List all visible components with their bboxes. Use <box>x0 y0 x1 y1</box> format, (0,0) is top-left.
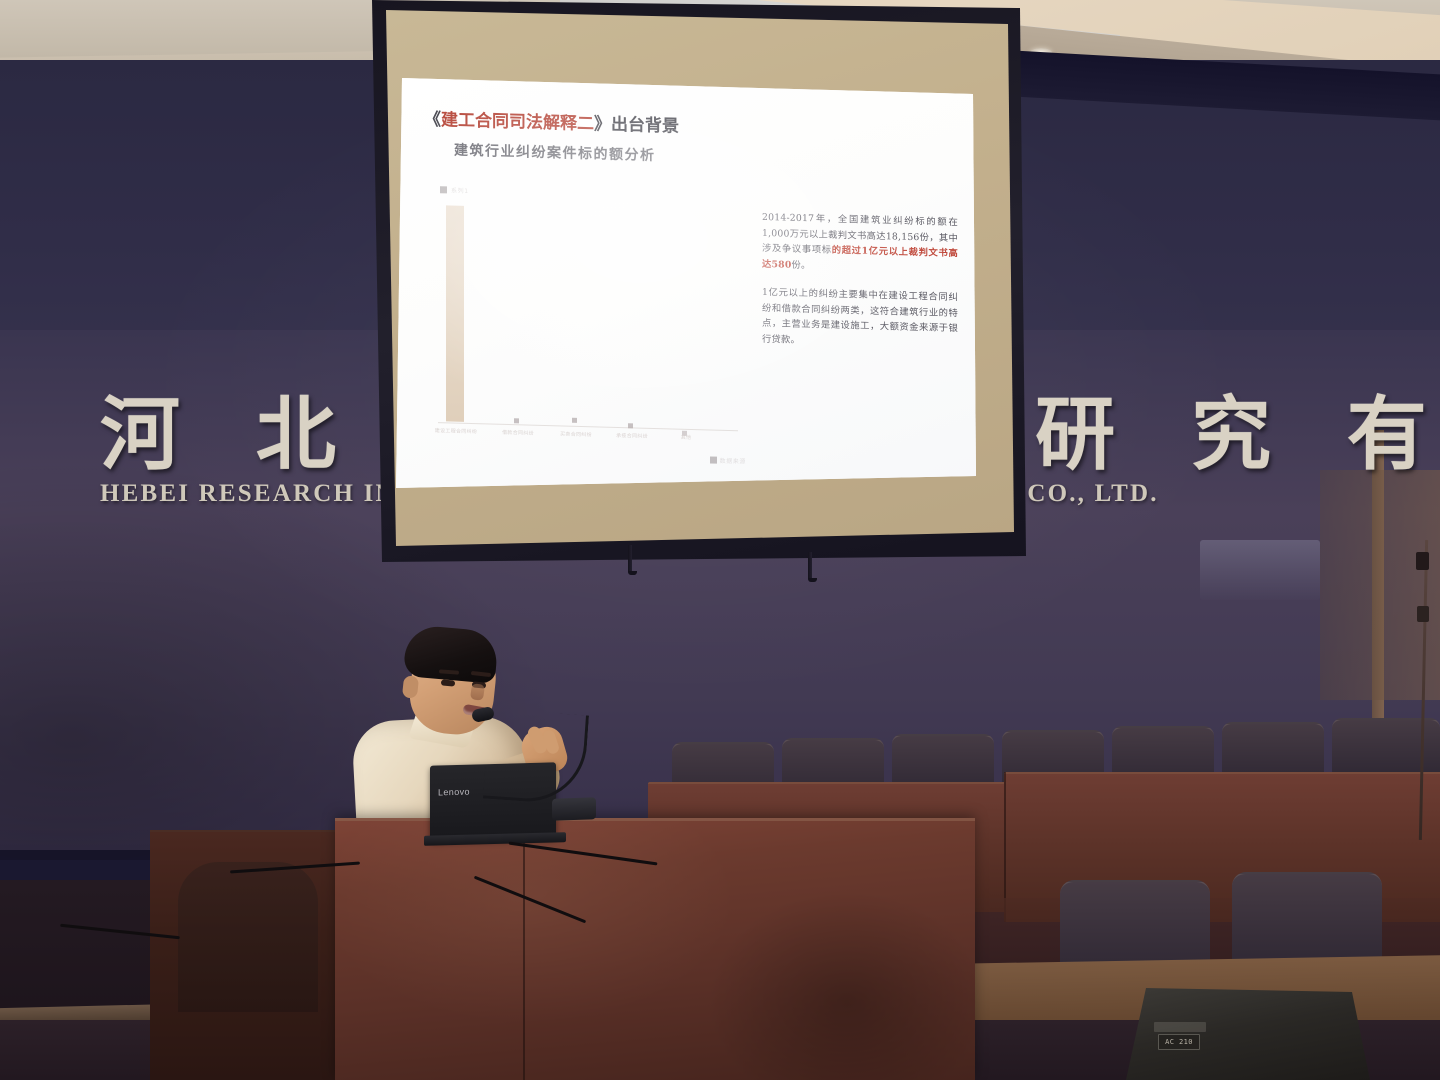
chart-legend: 系列1 <box>440 185 469 195</box>
chart-x-tick-label: 建设工程合同纠纷 <box>435 427 477 435</box>
chart-bar <box>446 205 464 421</box>
wall-light-reflection <box>1200 540 1320 600</box>
screen-mount-hook-icon <box>628 545 632 573</box>
presenter-podium <box>335 818 975 1080</box>
slide-title-tail: 出台背景 <box>611 115 679 137</box>
slide-title-bracket-open: 《 <box>424 110 441 130</box>
podium-side-panel <box>178 862 318 1012</box>
slide-subtitle: 建筑行业纠纷案件标的额分析 <box>454 140 656 165</box>
slide-title: 《建工合同司法解释二》出台背景 <box>424 105 679 137</box>
slide-text-block: 2014-2017年，全国建筑业纠纷标的额在1,000万元以上裁判文书高达18,… <box>762 210 958 365</box>
projected-slide: 《建工合同司法解释二》出台背景 建筑行业纠纷案件标的额分析 系列1 建设工程合同… <box>396 76 976 488</box>
chart-footnote: 数据来源 <box>710 455 746 465</box>
slide-paragraph-1: 2014-2017年，全国建筑业纠纷标的额在1,000万元以上裁判文书高达18,… <box>762 210 958 277</box>
screen-mount-hook-icon <box>808 552 812 580</box>
chart-bar <box>572 418 577 423</box>
slide-title-bracket-close: 》 <box>594 114 611 134</box>
legend-swatch-icon <box>440 186 447 193</box>
microphone-base <box>552 797 596 821</box>
legend-swatch-icon <box>710 456 717 463</box>
podium-surface-texture <box>335 821 975 1080</box>
chart-x-tick-label: 买卖合同纠纷 <box>560 430 592 438</box>
laptop-brand-label: Lenovo <box>438 787 470 798</box>
slide-paragraph-2: 1亿元以上的纠纷主要集中在建设工程合同纠纷和借款合同纠纷两类，这符合建筑行业的特… <box>762 285 958 352</box>
slide-canvas: 《建工合同司法解释二》出台背景 建筑行业纠纷案件标的额分析 系列1 建设工程合同… <box>396 76 976 488</box>
chart-plot-area: 建设工程合同纠纷 借款合同纠纷 买卖合同纠纷 承揽合同纠纷 其他 <box>438 203 738 429</box>
monitor-model-label: AC 210 <box>1158 1034 1200 1050</box>
monitor-brand-strip <box>1154 1022 1206 1032</box>
podium-seam <box>523 821 525 1080</box>
slide-bar-chart: 系列1 建设工程合同纠纷 借款合同纠纷 买卖合同纠纷 承揽合同纠纷 其他 <box>438 185 738 443</box>
chart-x-tick-label: 承揽合同纠纷 <box>616 432 648 440</box>
chart-bar <box>514 418 519 423</box>
chart-x-tick-label: 借款合同纠纷 <box>502 429 534 437</box>
stage-monitor-speaker: AC 210 <box>1120 988 1370 1080</box>
slide-title-highlight: 建工合同司法解释二 <box>441 110 594 134</box>
conference-hall-photo: 河 北 建 筑 勘 察 研 究 有 限 公 司 HEBEI RESEARCH I… <box>0 0 1440 1080</box>
chart-legend-label: 系列1 <box>451 185 469 194</box>
chart-x-tick-label: 其他 <box>681 434 692 441</box>
chart-x-axis <box>438 422 738 431</box>
mic-stand-head <box>1416 552 1429 570</box>
slide-paragraph-1-emphasis: 的超过1亿元以上裁判文书高达580 <box>762 245 958 270</box>
presenter-eye <box>441 679 455 686</box>
mic-stand-clip <box>1417 606 1429 622</box>
chart-footnote-label: 数据来源 <box>720 456 746 466</box>
